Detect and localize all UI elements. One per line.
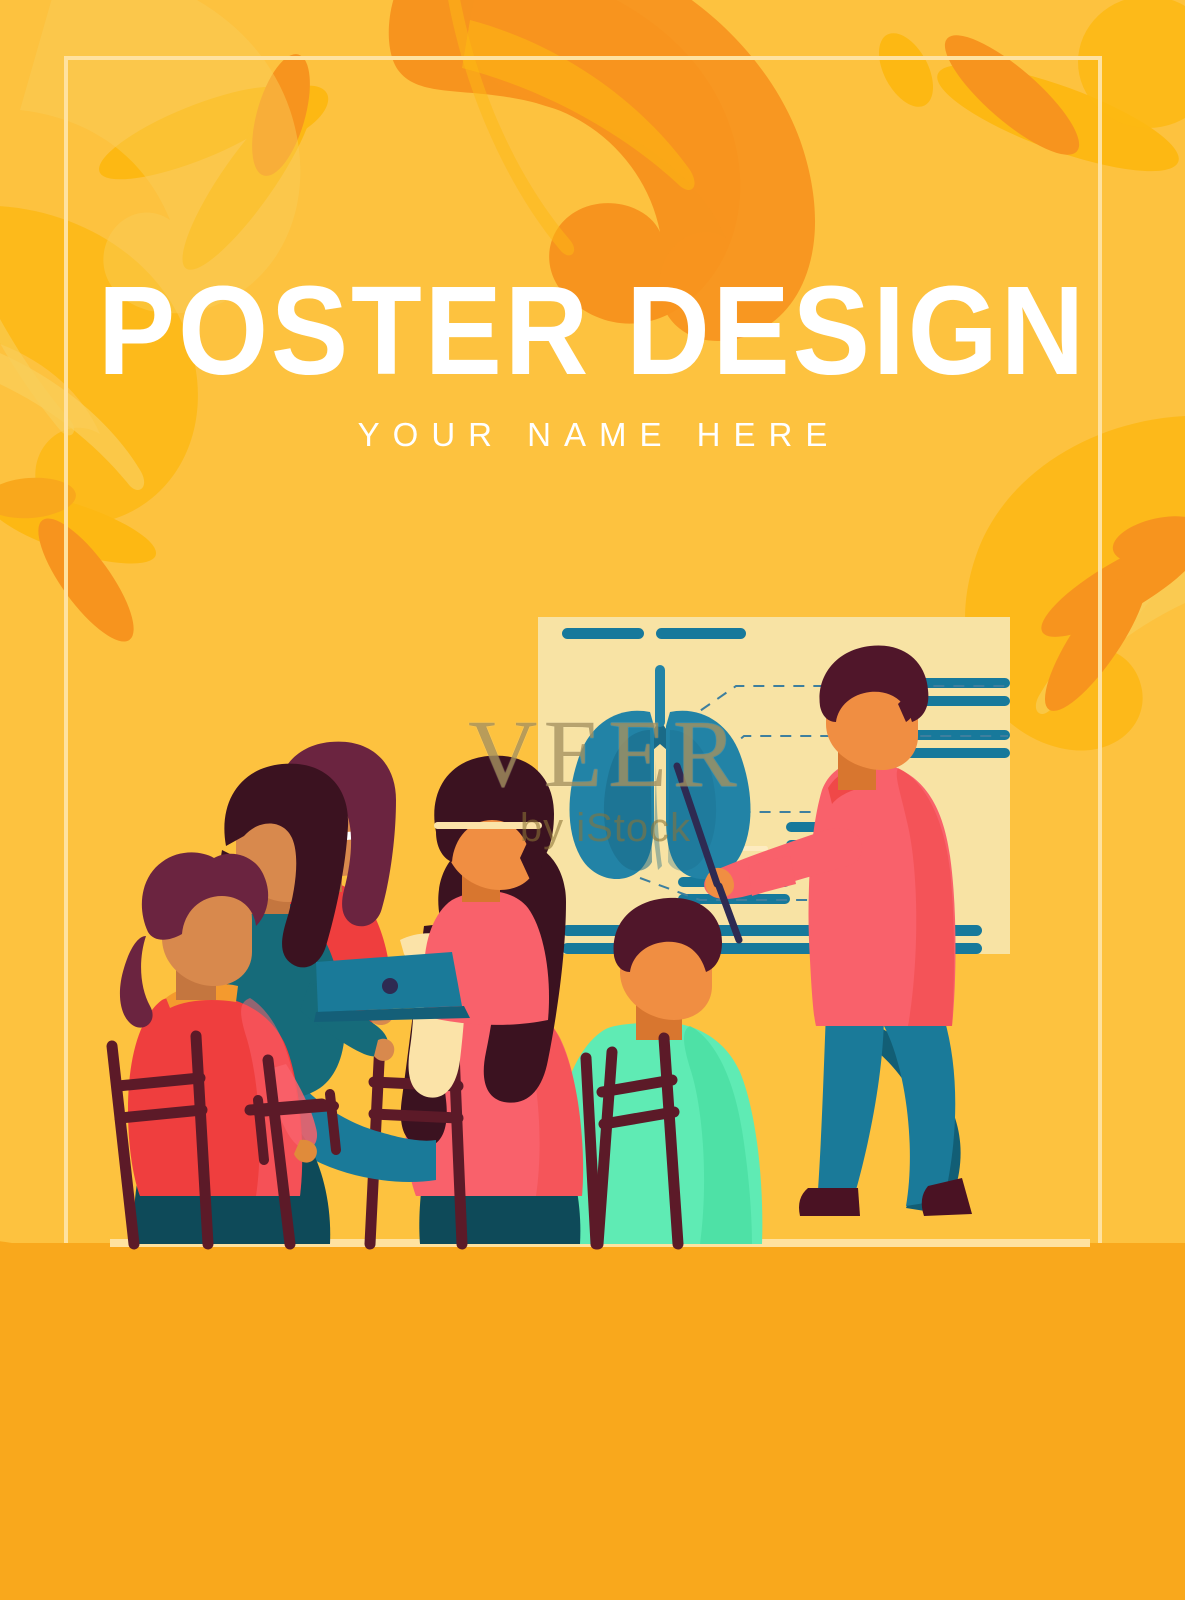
illustration-layer <box>0 0 1185 1600</box>
presenter-shoe <box>799 1188 860 1216</box>
floor-area <box>0 1243 1185 1600</box>
board-text-line <box>656 628 746 639</box>
laptop <box>314 952 470 1022</box>
poster-canvas: POSTER DESIGN YOUR NAME HERE <box>0 0 1185 1600</box>
board-text-line <box>562 628 644 639</box>
